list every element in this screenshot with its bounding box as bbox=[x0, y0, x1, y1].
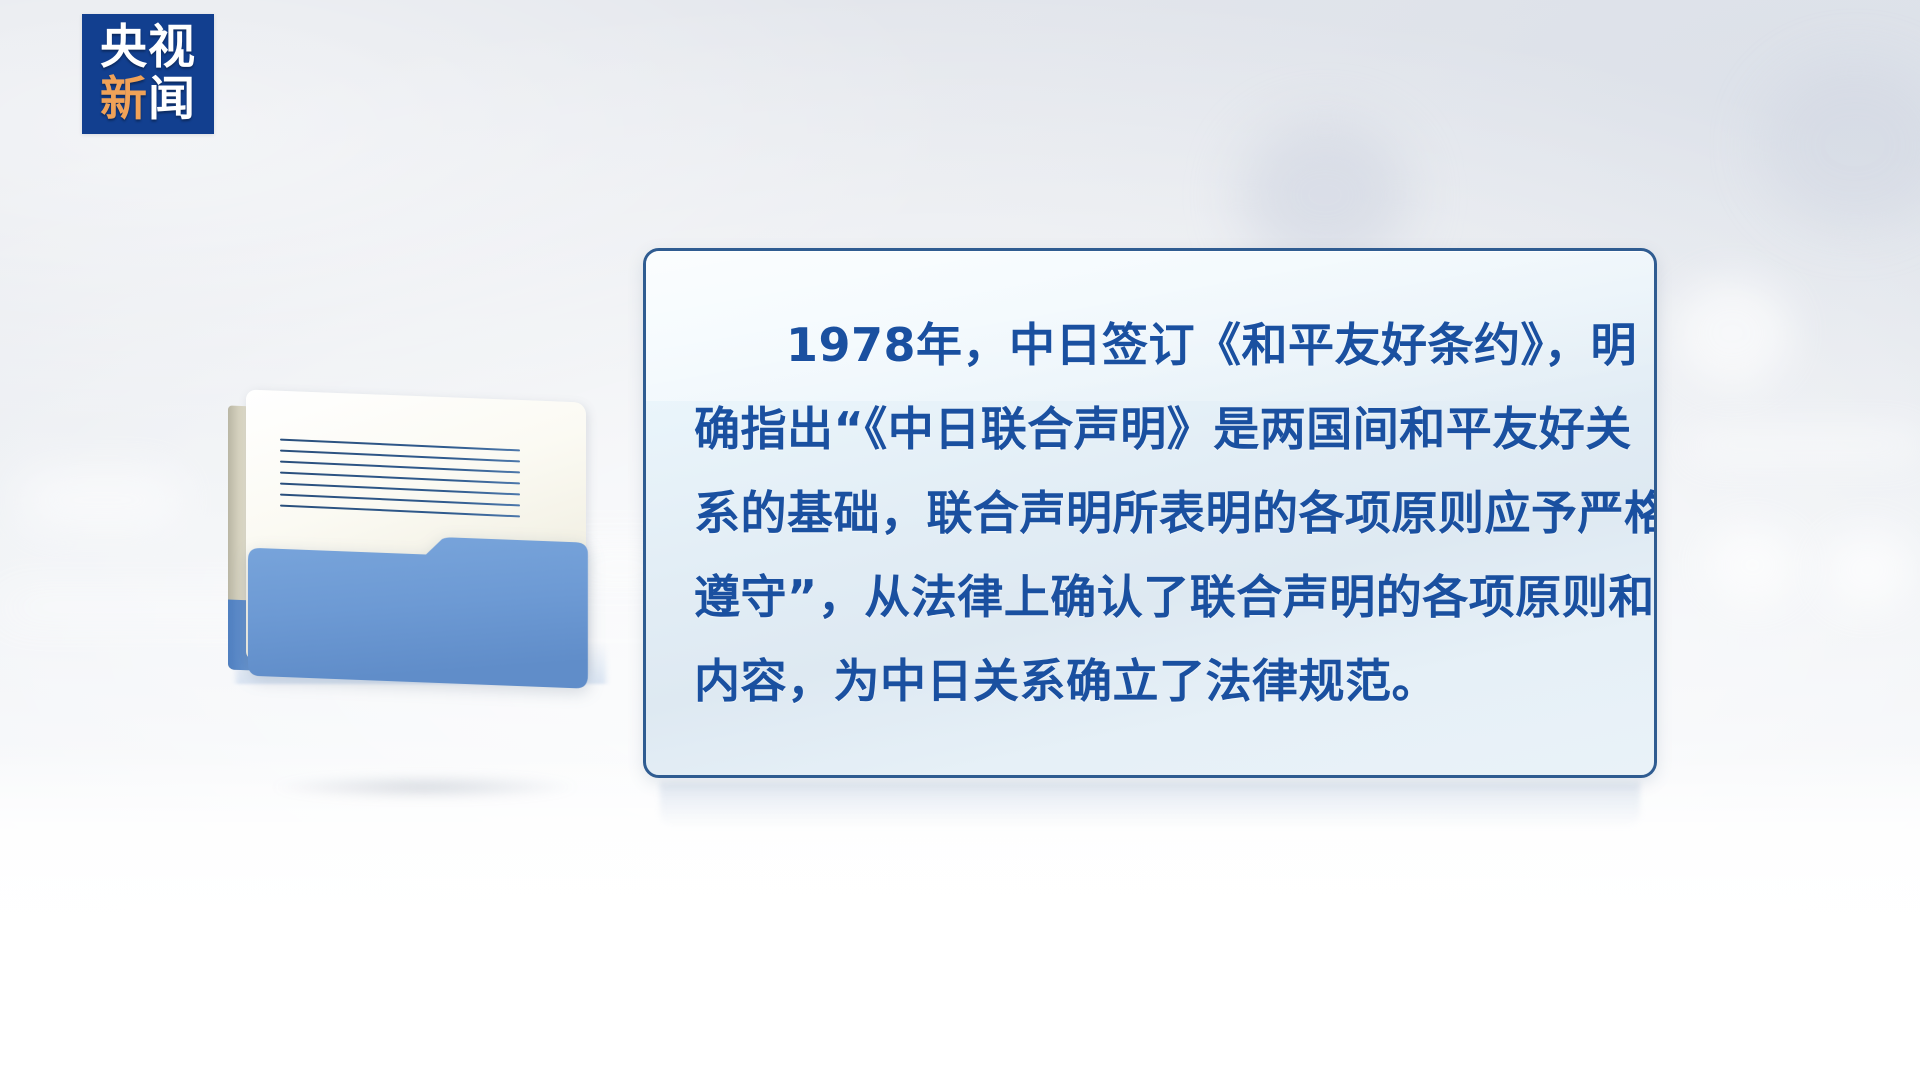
background-bokeh-blob bbox=[1705, 525, 1800, 605]
rule-line bbox=[280, 461, 520, 474]
panel-text-line: 内容，为中日关系确立了法律规范。 bbox=[694, 639, 1612, 723]
folder-front-pocket bbox=[238, 529, 588, 688]
rule-line bbox=[280, 450, 520, 463]
logo-line-xinwen: 新闻 bbox=[100, 74, 196, 126]
panel-text-line: 遵守”，从法律上确认了联合声明的各项原则和 bbox=[694, 555, 1612, 639]
background-bokeh-blob bbox=[1820, 530, 1915, 610]
background-light-streak bbox=[22, 470, 182, 530]
panel-text-line: 1978年，中日签订《和平友好条约》，明 bbox=[694, 303, 1612, 387]
document-folder-icon bbox=[228, 392, 608, 682]
quote-panel: 1978年，中日签订《和平友好条约》，明 确指出“《中日联合声明》是两国间和平友… bbox=[643, 248, 1657, 778]
cctv-news-logo: 央视 新闻 bbox=[82, 14, 214, 134]
logo-char-xin: 新 bbox=[100, 72, 148, 127]
panel-text-line: 确指出“《中日联合声明》是两国间和平友好关 bbox=[694, 387, 1612, 471]
rule-line bbox=[280, 494, 520, 507]
panel-reflection bbox=[660, 782, 1640, 828]
paper-rule-lines bbox=[280, 439, 520, 522]
panel-text-line: 系的基础，联合声明所表明的各项原则应予严格 bbox=[694, 471, 1612, 555]
logo-char-wen: 闻 bbox=[148, 72, 196, 127]
panel-body-text: 1978年，中日签订《和平友好条约》，明 确指出“《中日联合声明》是两国间和平友… bbox=[694, 303, 1612, 723]
background-light-streak bbox=[1690, 432, 1920, 458]
rule-line bbox=[280, 472, 520, 485]
folder-ground-shadow bbox=[210, 770, 640, 804]
screenshot-root: 央视 新闻 bbox=[0, 0, 1920, 1080]
rule-line bbox=[280, 483, 520, 496]
logo-line-yangshi: 央视 bbox=[100, 22, 196, 74]
background-bokeh-blob bbox=[1672, 278, 1792, 388]
